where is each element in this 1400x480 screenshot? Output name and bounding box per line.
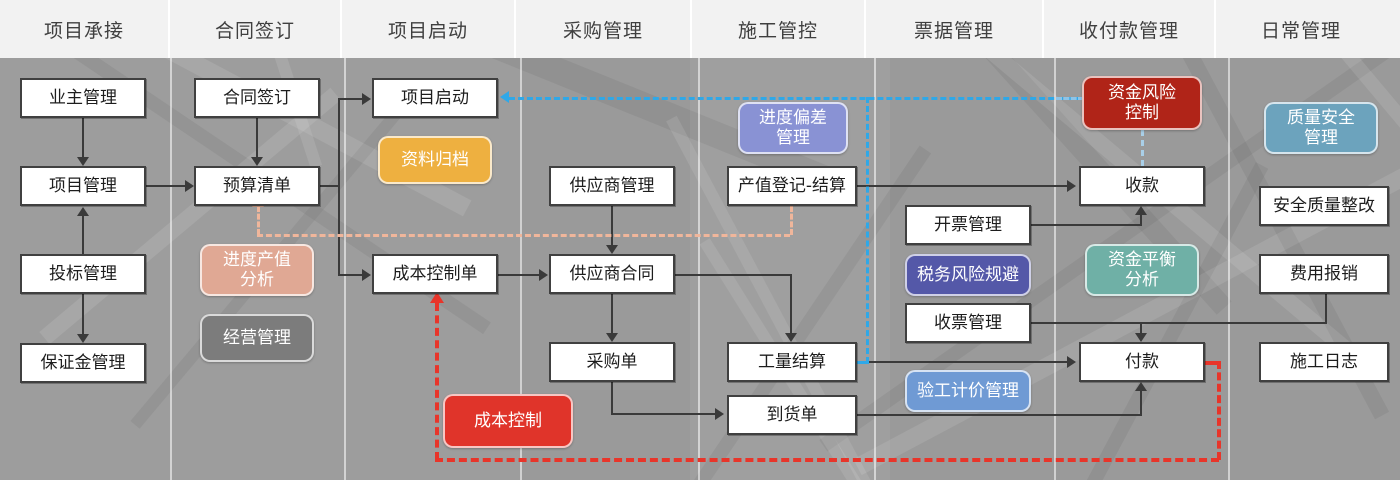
arrowhead: [362, 269, 371, 281]
node-label: 付款: [1125, 352, 1159, 372]
connector-gongyingshang-gyshetong: [611, 206, 613, 246]
dashed-flow-red-bottom: [435, 458, 1219, 462]
node-caigou[interactable]: 采购单: [549, 342, 675, 382]
phase-header-label: 项目启动: [388, 16, 468, 43]
texture-band: [39, 88, 340, 345]
dashed-flow-pink-main: [257, 234, 790, 237]
node-yangong[interactable]: 验工计价管理: [905, 370, 1031, 412]
connector-yusuan-chengbendan: [338, 274, 364, 276]
column-separator-5: [874, 58, 876, 480]
arrowhead: [77, 157, 89, 166]
node-fukuan[interactable]: 付款: [1079, 342, 1205, 382]
arrowhead: [251, 157, 263, 166]
node-yusuan[interactable]: 预算清单: [194, 166, 320, 206]
column-separator-7: [1228, 58, 1230, 480]
phase-header-label: 项目承接: [44, 16, 124, 43]
connector-gyshetong-gongliang-v: [790, 274, 792, 334]
node-zijin-fengxian[interactable]: 资金风险 控制: [1082, 76, 1202, 130]
node-label: 收款: [1125, 176, 1159, 196]
node-label: 进度产值 分析: [223, 250, 291, 290]
node-label: 采购单: [587, 352, 638, 372]
arrowhead: [1135, 333, 1147, 342]
node-ziliao[interactable]: 资料归档: [378, 136, 492, 184]
node-jingying[interactable]: 经营管理: [200, 314, 314, 362]
connector-shoupiao-fukuan-h: [1031, 322, 1142, 324]
dashed-flow-pink-up-yusuan: [257, 206, 260, 235]
node-zijin-pingheng[interactable]: 资金平衡 分析: [1085, 244, 1199, 296]
connector-yezhu-xiangmu: [82, 118, 84, 158]
node-label: 收票管理: [934, 313, 1002, 333]
node-gongyingshang[interactable]: 供应商管理: [549, 166, 675, 206]
connector-kaipiao-shoukuan-v: [1140, 214, 1142, 225]
node-label: 业主管理: [49, 88, 117, 108]
phase-header-label: 施工管控: [738, 16, 818, 43]
arrowhead: [785, 333, 797, 342]
node-qidong[interactable]: 项目启动: [372, 78, 498, 118]
phase-header-5[interactable]: 票据管理: [866, 0, 1044, 58]
arrowhead: [715, 408, 724, 420]
node-label: 产值登记-结算: [738, 176, 846, 196]
phase-header-label: 票据管理: [914, 16, 994, 43]
node-daohuo[interactable]: 到货单: [727, 395, 857, 435]
connector-caigou-daohuo-v: [611, 382, 613, 415]
node-shoukuan[interactable]: 收款: [1079, 166, 1205, 206]
connector-hetong-yusuan: [256, 118, 258, 158]
node-feiyong[interactable]: 费用报销: [1259, 254, 1389, 294]
phase-header-label: 日常管理: [1261, 16, 1341, 43]
node-jindu-chanzhi[interactable]: 进度产值 分析: [200, 244, 314, 296]
column-separator-1: [170, 58, 172, 480]
phase-header-label: 收付款管理: [1079, 16, 1179, 43]
connector-chengbendan-gyshetong: [498, 274, 541, 276]
node-hetong[interactable]: 合同签订: [194, 78, 320, 118]
dashed-flow-pink-from-chanzhi: [790, 206, 793, 235]
phase-header-3[interactable]: 采购管理: [516, 0, 692, 58]
arrowhead: [539, 269, 548, 281]
node-label: 资金风险 控制: [1108, 83, 1176, 123]
dashed-flow-blue-main: [509, 97, 1144, 100]
node-label: 资料归档: [401, 150, 469, 170]
workflow-diagram: 项目承接合同签订项目启动采购管理施工管控票据管理收付款管理日常管理: [0, 0, 1400, 480]
node-label: 费用报销: [1290, 264, 1358, 284]
node-label: 项目管理: [49, 176, 117, 196]
texture-band: [1250, 58, 1400, 270]
phase-header-7[interactable]: 日常管理: [1216, 0, 1386, 58]
dashed-flow-zijin-shoukuan: [1141, 130, 1144, 166]
node-label: 安全质量整改: [1273, 196, 1375, 216]
connector-yusuan-branch-v: [338, 98, 340, 276]
connector-toubiao-baozheng: [82, 294, 84, 334]
arrowhead: [77, 207, 89, 216]
connector-feiyong-fukuan-h: [1140, 322, 1327, 324]
node-shoupiao[interactable]: 收票管理: [905, 303, 1031, 343]
arrowhead: [1067, 356, 1076, 368]
phase-header-6[interactable]: 收付款管理: [1044, 0, 1216, 58]
node-label: 供应商管理: [570, 176, 655, 196]
arrowhead: [1135, 206, 1147, 215]
node-shuiwu[interactable]: 税务风险规避: [905, 254, 1031, 296]
connector-yusuan-branch: [320, 185, 340, 187]
node-shigong[interactable]: 施工日志: [1259, 342, 1389, 382]
arrowhead: [185, 180, 194, 192]
column-separator-2: [344, 58, 346, 480]
node-kaipiao[interactable]: 开票管理: [905, 205, 1031, 245]
connector-gyshetong-caigou: [611, 294, 613, 334]
node-toubiao[interactable]: 投标管理: [20, 254, 146, 294]
arrowhead: [606, 245, 618, 254]
node-label: 成本控制: [474, 411, 542, 431]
node-label: 质量安全 管理: [1287, 108, 1355, 148]
diagram-canvas: 业主管理项目管理投标管理保证金管理合同签订预算清单进度产值 分析经营管理项目启动…: [0, 58, 1400, 480]
phase-header-label: 采购管理: [563, 16, 643, 43]
column-separator-4: [698, 58, 700, 480]
node-zhiliang[interactable]: 质量安全 管理: [1264, 102, 1378, 154]
node-label: 施工日志: [1290, 352, 1358, 372]
arrowhead: [606, 333, 618, 342]
node-label: 预算清单: [223, 176, 291, 196]
dashed-flow-red-from-fukuan: [1205, 361, 1221, 365]
phase-header-row: 项目承接合同签订项目启动采购管理施工管控票据管理收付款管理日常管理: [0, 0, 1400, 58]
phase-header-label: 合同签订: [215, 16, 295, 43]
node-label: 投标管理: [49, 264, 117, 284]
dashed-flow-blue-vertical: [866, 97, 869, 363]
node-chengben[interactable]: 成本控制: [443, 394, 573, 448]
connector-yusuan-qidong: [338, 98, 364, 100]
node-chengben-dan[interactable]: 成本控制单: [372, 254, 498, 294]
node-gongliang[interactable]: 工量结算: [727, 342, 857, 382]
dashed-flow-red-right: [1217, 361, 1221, 460]
node-label: 工量结算: [758, 352, 826, 372]
arrowhead-blue: [500, 91, 509, 103]
node-anquan[interactable]: 安全质量整改: [1259, 186, 1389, 226]
connector-daohuo-fukuan-v: [1140, 390, 1142, 415]
column-separator-6: [1054, 58, 1056, 480]
arrowhead: [362, 93, 371, 105]
dashed-flow-zijin-inlet: [1056, 97, 1084, 100]
node-label: 项目启动: [401, 88, 469, 108]
node-xiangmu[interactable]: 项目管理: [20, 166, 146, 206]
connector-toubiao-xiangmu: [82, 213, 84, 254]
arrowhead: [1135, 382, 1147, 391]
dashed-flow-red-left-up: [435, 303, 439, 460]
node-label: 税务风险规避: [917, 265, 1019, 285]
phase-header-4[interactable]: 施工管控: [692, 0, 866, 58]
node-label: 进度偏差 管理: [759, 108, 827, 148]
node-label: 到货单: [767, 405, 818, 425]
phase-header-2[interactable]: 项目启动: [342, 0, 516, 58]
connector-daohuo-fukuan-h: [857, 414, 1142, 416]
node-label: 验工计价管理: [917, 381, 1019, 401]
node-jindu-piancha[interactable]: 进度偏差 管理: [738, 102, 848, 154]
node-label: 保证金管理: [41, 353, 126, 373]
node-label: 开票管理: [934, 215, 1002, 235]
arrowhead: [1067, 180, 1076, 192]
dashed-flow-blue-to-gongliang: [857, 361, 869, 364]
node-label: 成本控制单: [393, 264, 478, 284]
connector-feiyong-fukuan-v: [1325, 294, 1327, 323]
connector-kaipiao-shoukuan-h: [1031, 224, 1142, 226]
phase-header-1[interactable]: 合同签订: [170, 0, 342, 58]
node-yezhu[interactable]: 业主管理: [20, 78, 146, 118]
node-chanzhi[interactable]: 产值登记-结算: [727, 166, 857, 206]
node-label: 供应商合同: [570, 264, 655, 284]
connector-caigou-daohuo-h: [611, 413, 717, 415]
node-label: 合同签订: [223, 88, 291, 108]
connector-chanzhi-shoukuan: [857, 185, 1069, 187]
arrowhead: [77, 334, 89, 343]
node-gys-hetong[interactable]: 供应商合同: [549, 254, 675, 294]
connector-xiangmu-yusuan: [146, 185, 186, 187]
node-baozheng[interactable]: 保证金管理: [20, 343, 146, 383]
node-label: 经营管理: [223, 328, 291, 348]
connector-gongliang-fukuan: [857, 361, 1069, 363]
node-label: 资金平衡 分析: [1108, 250, 1176, 290]
phase-header-0[interactable]: 项目承接: [0, 0, 170, 58]
connector-gyshetong-gongliang-h: [675, 274, 792, 276]
